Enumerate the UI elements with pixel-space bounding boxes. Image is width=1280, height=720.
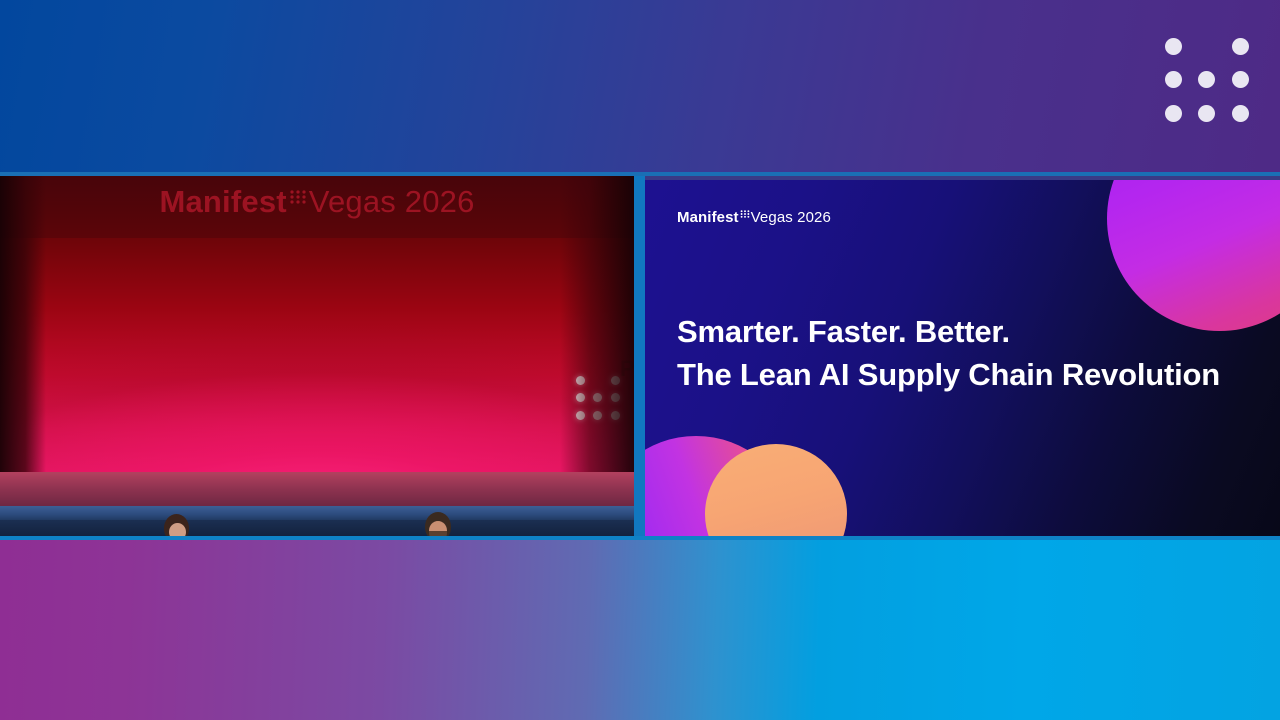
backdrop-brand-edition: Vegas 2026 xyxy=(309,184,475,219)
panel-divider xyxy=(634,176,645,540)
slide-title: Smarter. Faster. Better. The Lean AI Sup… xyxy=(677,310,1257,396)
three-column-dot-matrix-icon xyxy=(739,208,751,220)
manifest-eight-dot-grid-icon xyxy=(1157,30,1257,130)
slide-brand-edition: Vegas 2026 xyxy=(751,209,831,226)
slide-top-edge xyxy=(645,176,1280,180)
stage-wall-right-return xyxy=(560,176,634,476)
stage-wall-left-return xyxy=(0,176,46,476)
slide-decor-top-right-circle xyxy=(1107,176,1280,331)
footer-brand-band xyxy=(0,540,1280,720)
slide-brand-name: Manifest xyxy=(677,209,739,226)
session-stream-frame: ManifestVegas 2026 P xyxy=(0,0,1280,720)
presentation-slide[interactable]: ManifestVegas 2026 Smarter. Faster. Bett… xyxy=(645,176,1280,540)
slide-brand-lockup: ManifestVegas 2026 xyxy=(677,208,831,226)
live-stage-video[interactable]: ManifestVegas 2026 P xyxy=(0,176,634,540)
backdrop-wordmark: ManifestVegas 2026 xyxy=(0,184,634,220)
three-column-dot-matrix-icon xyxy=(287,186,309,208)
header-brand-band xyxy=(0,0,1280,176)
slide-title-line-1: Smarter. Faster. Better. xyxy=(677,310,1257,353)
backdrop-brand-name: Manifest xyxy=(159,184,286,219)
slide-title-line-2: The Lean AI Supply Chain Revolution xyxy=(677,353,1257,396)
